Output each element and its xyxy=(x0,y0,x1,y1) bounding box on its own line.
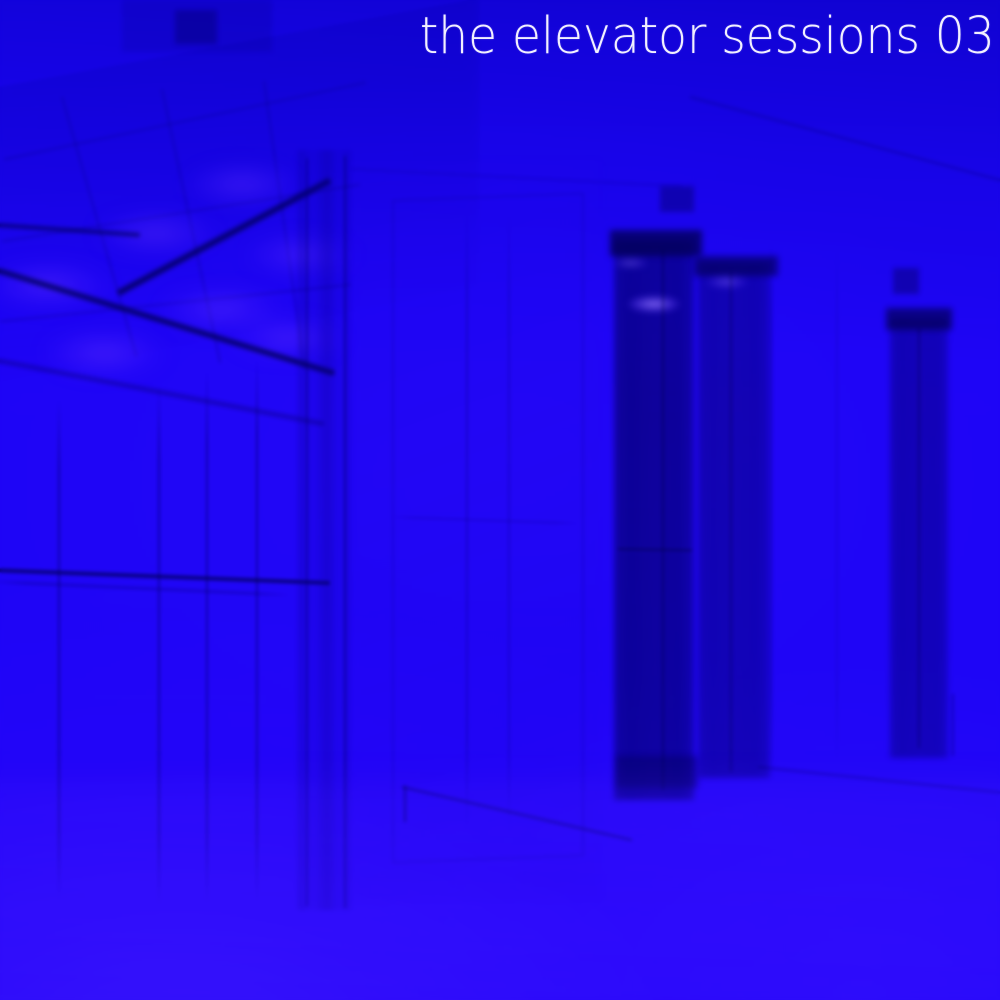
elevator-door-split xyxy=(662,250,664,790)
cab-ceiling-light xyxy=(706,276,748,288)
baseboard-line xyxy=(402,786,632,841)
ceiling-wall-edge xyxy=(352,168,682,187)
elevator-front-left-frame xyxy=(392,192,584,863)
ceiling-wall-edge xyxy=(690,96,1000,183)
elevator-header-beam xyxy=(610,230,702,256)
cab-ceiling-light xyxy=(614,258,648,268)
wall-panel-seam xyxy=(206,372,208,904)
ceiling-light-panel xyxy=(186,164,298,204)
wall-panel-seam xyxy=(770,244,772,768)
ceiling-tile-seam xyxy=(2,184,360,243)
baseboard-line xyxy=(758,766,1000,793)
baseboard-line xyxy=(404,786,406,822)
wall-panel-seam xyxy=(836,250,838,762)
elevator-header-beam xyxy=(694,256,778,276)
wall-panel-seam xyxy=(392,516,578,524)
door-jamb-seam xyxy=(306,158,308,906)
photo-background xyxy=(0,0,1000,1000)
elevator-middle-open xyxy=(614,240,694,800)
door-jamb-seam xyxy=(344,156,346,908)
ceiling-light-panel xyxy=(246,236,354,274)
door-jamb-column xyxy=(298,150,350,910)
baseboard-line xyxy=(952,694,954,756)
ceiling-light-panel xyxy=(232,318,344,358)
ceiling-rail xyxy=(0,264,335,377)
cab-ceiling-light xyxy=(628,296,680,312)
elevator-far-right xyxy=(890,318,948,758)
ceiling-tile-seam xyxy=(4,82,366,161)
wall-panel-seam xyxy=(58,400,60,900)
floor-plane xyxy=(0,780,1000,1000)
wall-panel-seam xyxy=(158,386,160,906)
ceiling-rail xyxy=(116,177,332,298)
cab-handrail xyxy=(0,568,330,585)
photo-softening-overlay xyxy=(0,0,1000,1000)
wall-panel-seam xyxy=(508,210,510,834)
ceiling-light-panel xyxy=(44,330,164,376)
ceiling-light-panel xyxy=(0,262,110,308)
ceiling-light-panel xyxy=(96,212,216,254)
elevator-door-split xyxy=(730,272,732,772)
cab-handrail-shadow xyxy=(0,580,290,597)
cab-handrail xyxy=(618,548,692,551)
ceiling-tile-seam xyxy=(263,81,305,368)
wall-panel-seam xyxy=(256,360,258,902)
title-bar: the elevator sessions 03 xyxy=(0,0,1000,78)
ceiling-light-panel xyxy=(160,288,284,332)
ceiling-sign-icon xyxy=(893,268,919,294)
wall-panel-seam xyxy=(466,214,468,830)
ceiling-tile-seam xyxy=(61,97,137,357)
elevator-front-left xyxy=(352,160,602,900)
elevator-second-open xyxy=(698,262,770,778)
cab-floor-shadow xyxy=(616,756,698,788)
ceiling-rail-soft xyxy=(0,356,324,427)
ceiling-tile-seam xyxy=(1,284,351,323)
elevator-header-beam xyxy=(886,308,952,330)
ceiling-sign-icon xyxy=(660,186,694,212)
ceiling-rail xyxy=(0,222,140,237)
ceiling-tile-seam xyxy=(161,89,221,363)
elevator-door-split xyxy=(918,328,920,748)
album-title: the elevator sessions 03 xyxy=(419,0,1000,62)
blue-duotone-overlay xyxy=(0,0,1000,1000)
album-cover: the elevator sessions 03 xyxy=(0,0,1000,1000)
